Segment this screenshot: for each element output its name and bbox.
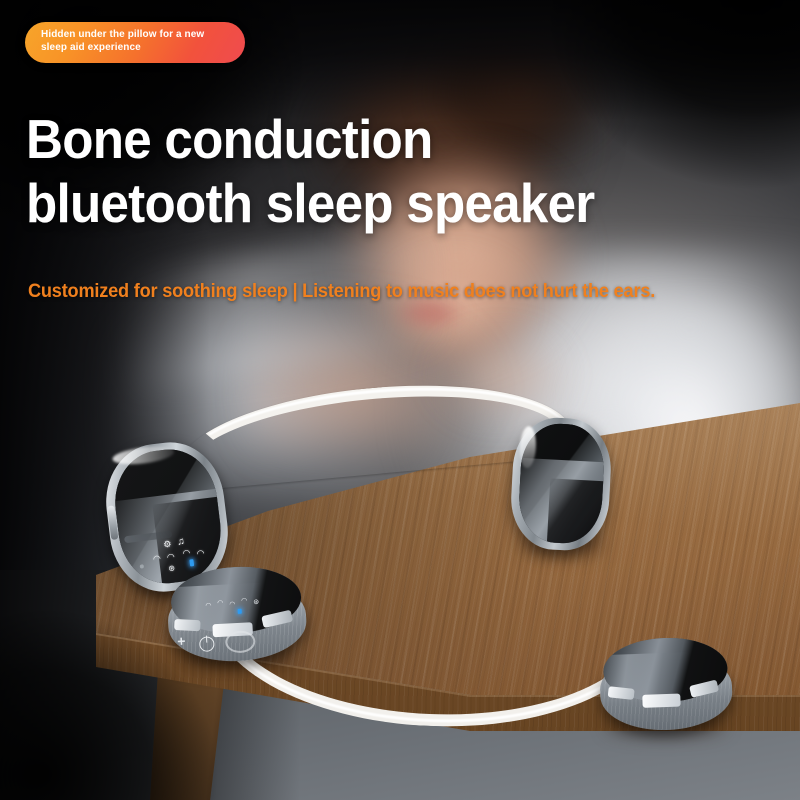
touch-control-4-icon[interactable]: ◠	[196, 549, 205, 559]
gloss-dark-region	[546, 478, 606, 545]
headline-line-1: Bone conduction	[26, 108, 433, 170]
chrome-accent-left	[174, 619, 201, 631]
gear-icon[interactable]: ⚙	[163, 540, 172, 550]
page-title: Bone conduction bluetooth sleep speaker	[26, 108, 733, 236]
right-puck-module	[598, 636, 733, 739]
touch-control-4-icon[interactable]: ◠	[241, 597, 247, 604]
product-banner: ⚙ ♫ ◠ ◠ ◠ ◠ ⊛ ◠ ◠ ◠ ◠ ⊛ + Hidden under	[0, 0, 800, 800]
headline-line-2: bluetooth sleep speaker	[26, 172, 733, 236]
music-note-icon[interactable]: ♫	[177, 537, 186, 548]
touch-control-3-icon[interactable]: ◠	[182, 548, 191, 558]
volume-up-icon[interactable]: +	[177, 634, 186, 648]
touch-control-1-icon[interactable]: ◠	[153, 554, 162, 564]
right-oval-module	[509, 416, 614, 553]
power-icon-line	[206, 636, 208, 643]
touch-control-3-icon[interactable]: ◠	[229, 601, 235, 608]
bluetooth-led-indicator	[189, 559, 194, 566]
power-button[interactable]	[199, 636, 215, 652]
touch-control-2-icon[interactable]: ◠	[217, 600, 223, 607]
status-led-indicator	[238, 609, 242, 614]
touch-control-2-icon[interactable]: ◠	[166, 552, 175, 562]
left-puck-module: ◠ ◠ ◠ ◠ ⊛ +	[165, 561, 308, 672]
promo-badge: Hidden under the pillow for a new sleep …	[25, 22, 245, 63]
chrome-accent-center	[642, 694, 680, 708]
touch-control-5-icon[interactable]: ⊛	[253, 599, 259, 606]
touch-control-1-icon[interactable]: ◠	[205, 602, 211, 609]
page-subtitle: Customized for soothing sleep | Listenin…	[28, 281, 754, 303]
